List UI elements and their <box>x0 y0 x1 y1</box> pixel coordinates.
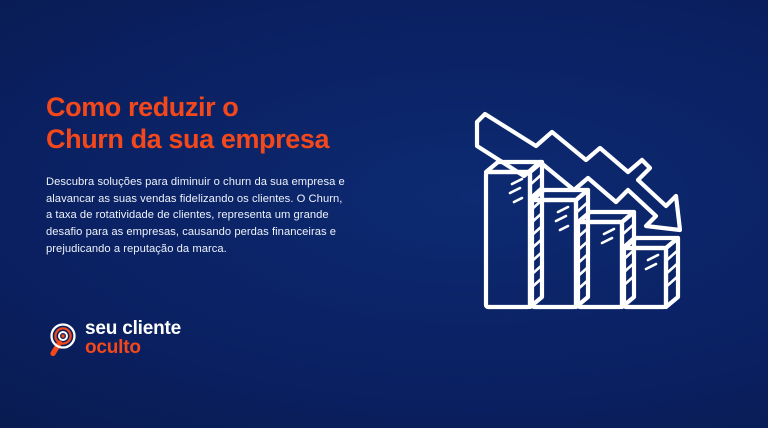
brand-logo[interactable]: seu cliente oculto <box>48 320 181 357</box>
logo-text-primary: seu cliente <box>85 320 181 338</box>
banner-root: Como reduzir o Churn da sua empresa Desc… <box>0 0 768 428</box>
logo-wordmark: seu cliente oculto <box>85 320 181 357</box>
declining-bar-chart-illustration <box>452 100 682 330</box>
description-paragraph: Descubra soluções para diminuir o churn … <box>46 174 348 258</box>
magnifying-glass-icon <box>48 322 78 356</box>
logo-text-secondary: oculto <box>85 339 181 357</box>
page-title: Como reduzir o Churn da sua empresa <box>46 92 376 156</box>
left-content-column: Como reduzir o Churn da sua empresa Desc… <box>46 92 376 258</box>
